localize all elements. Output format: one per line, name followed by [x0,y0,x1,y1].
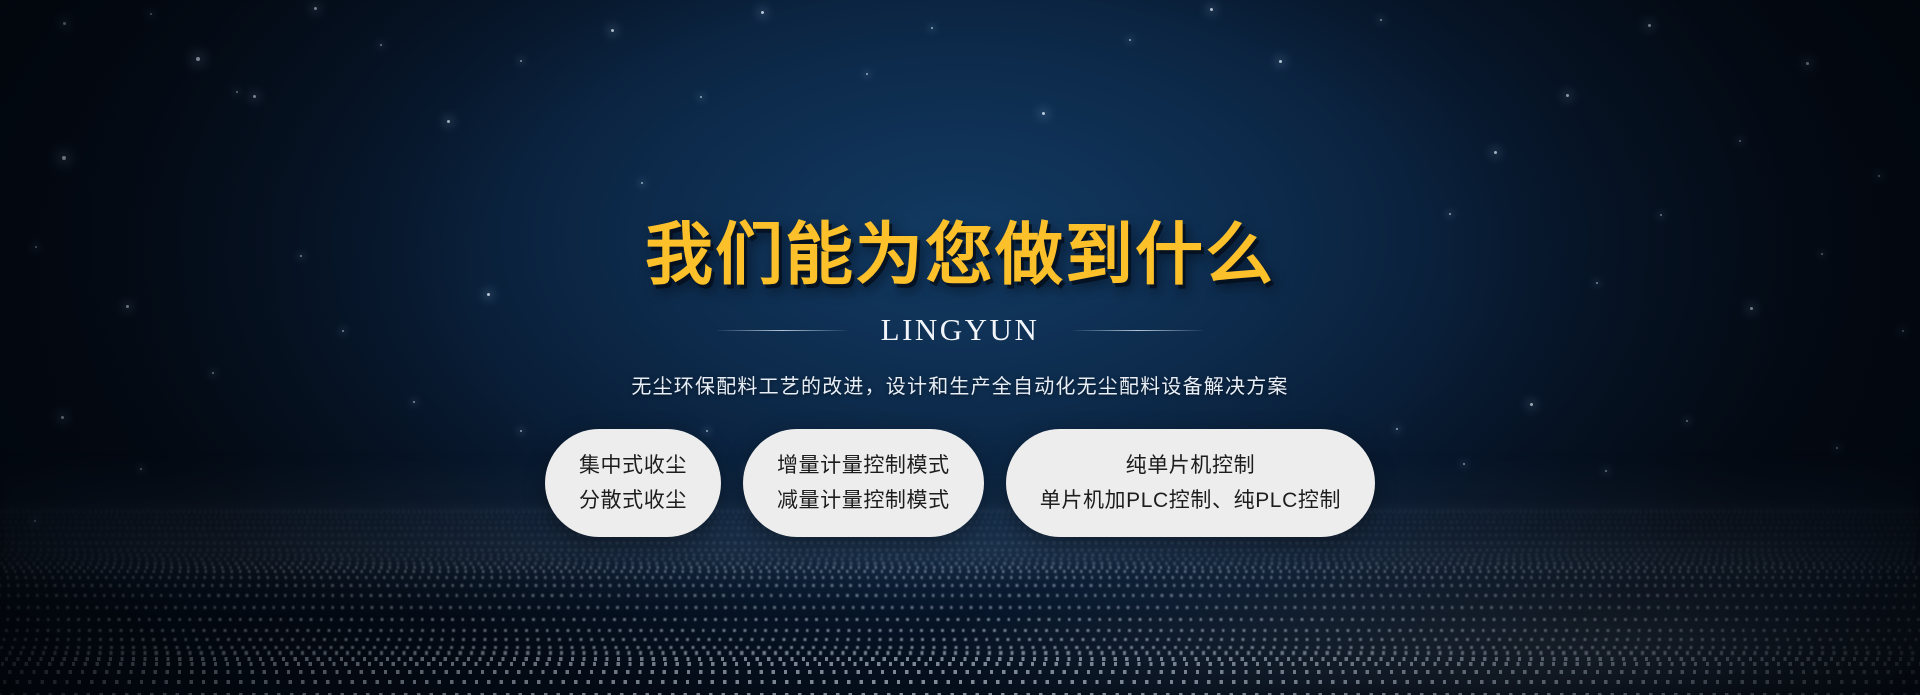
brand-divider-row: LINGYUN [717,312,1204,348]
feature-pill-list: 集中式收尘 分散式收尘 增量计量控制模式 减量计量控制模式 纯单片机控制 单片机… [545,429,1375,537]
feature-pill-line: 纯单片机控制 [1126,455,1256,476]
feature-pill-line: 单片机加PLC控制、纯PLC控制 [1040,490,1341,511]
feature-pill-line: 减量计量控制模式 [777,490,950,511]
hero-description: 无尘环保配料工艺的改进，设计和生产全自动化无尘配料设备解决方案 [631,370,1288,399]
feature-pill[interactable]: 增量计量控制模式 减量计量控制模式 [743,429,984,537]
feature-pill-line: 集中式收尘 [579,455,687,476]
hero-content: 我们能为您做到什么 LINGYUN 无尘环保配料工艺的改进，设计和生产全自动化无… [0,0,1920,695]
feature-pill-line: 分散式收尘 [579,490,687,511]
brand-name: LINGYUN [881,312,1040,348]
divider-line-right [1073,330,1203,331]
page-title: 我们能为您做到什么 [645,222,1275,290]
feature-pill[interactable]: 纯单片机控制 单片机加PLC控制、纯PLC控制 [1006,429,1375,537]
feature-pill[interactable]: 集中式收尘 分散式收尘 [545,429,721,537]
feature-pill-line: 增量计量控制模式 [777,455,950,476]
hero-banner: 我们能为您做到什么 LINGYUN 无尘环保配料工艺的改进，设计和生产全自动化无… [0,0,1920,695]
divider-line-left [717,330,847,331]
